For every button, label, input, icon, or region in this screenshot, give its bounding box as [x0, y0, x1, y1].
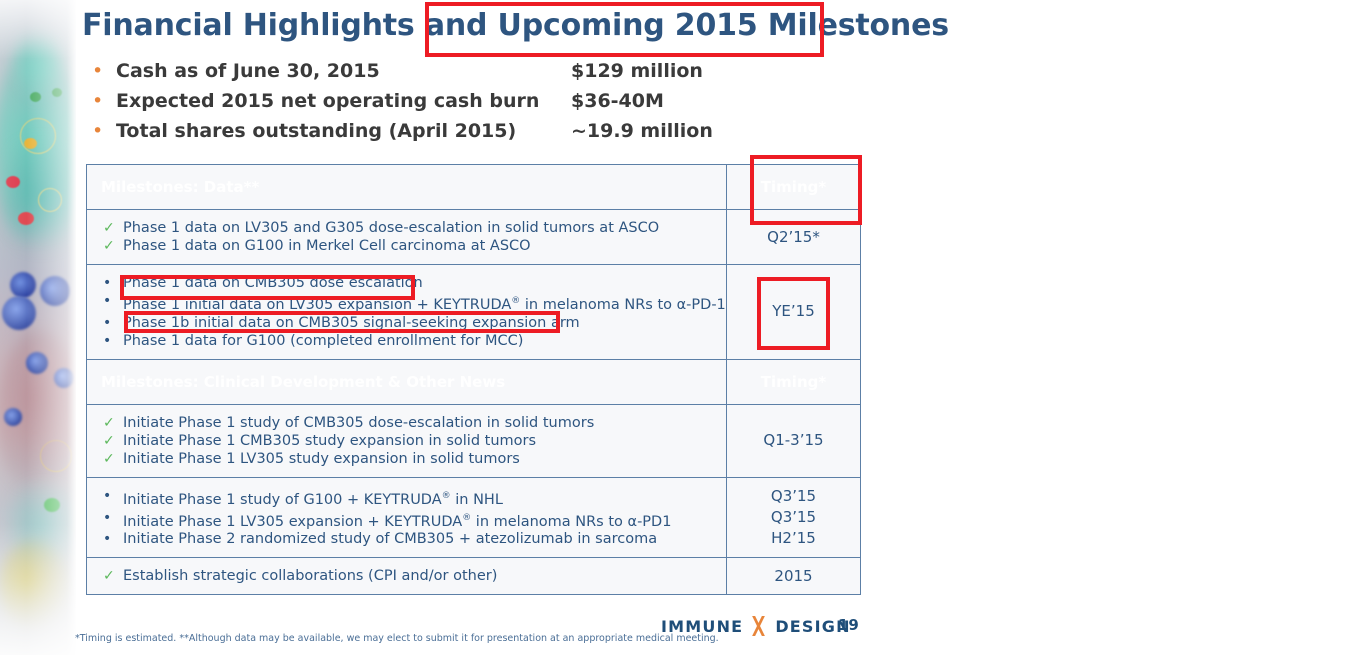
- check-icon: ✓: [97, 450, 123, 468]
- timing-value: Q3’15: [731, 507, 856, 528]
- milestone-text: Establish strategic collaborations (CPI …: [123, 567, 497, 585]
- list-item: • Cash as of June 30, 2015 $129 million: [92, 60, 792, 90]
- highlight-value: $129 million: [571, 60, 703, 82]
- milestone-cell: ✓ Initiate Phase 1 study of CMB305 dose-…: [87, 404, 727, 477]
- list-item: ✓ Initiate Phase 1 LV305 study expansion…: [97, 450, 720, 468]
- list-item: ✓ Phase 1 data on G100 in Merkel Cell ca…: [97, 237, 720, 255]
- milestone-text: Initiate Phase 2 randomized study of CMB…: [123, 530, 657, 548]
- list-item: ✓ Phase 1 data on LV305 and G305 dose-es…: [97, 219, 720, 237]
- table-row: ✓ Initiate Phase 1 study of CMB305 dose-…: [87, 404, 861, 477]
- milestone-cell: ✓ Phase 1 data on LV305 and G305 dose-es…: [87, 210, 727, 265]
- timing-value: Q2’15*: [731, 227, 856, 248]
- bullet-icon: •: [92, 122, 116, 141]
- column-header-timing-data: Timing*: [727, 165, 861, 210]
- milestone-cell: • Initiate Phase 1 study of G100 + KEYTR…: [87, 477, 727, 558]
- milestone-text: Phase 1 initial data on LV305 expansion …: [123, 292, 726, 314]
- list-item: • Phase 1 initial data on LV305 expansio…: [97, 292, 720, 314]
- list-item: • Initiate Phase 1 study of G100 + KEYTR…: [97, 487, 720, 509]
- strip-vertical-fade: [0, 0, 76, 655]
- milestone-text: Phase 1 data on CMB305 dose escalation: [123, 274, 423, 292]
- list-item: ✓ Initiate Phase 1 study of CMB305 dose-…: [97, 414, 720, 432]
- highlight-value: $36-40M: [571, 90, 664, 112]
- milestone-cell: ✓ Establish strategic collaborations (CP…: [87, 558, 727, 595]
- check-icon: ✓: [97, 432, 123, 450]
- decorative-bio-image-strip: [0, 0, 76, 655]
- timing-cell: Q2’15*: [727, 210, 861, 265]
- timing-cell: Q3’15 Q3’15 H2’15: [727, 477, 861, 558]
- milestone-text: Phase 1b initial data on CMB305 signal-s…: [123, 314, 580, 332]
- milestone-text: Phase 1 data on G100 in Merkel Cell carc…: [123, 237, 531, 255]
- milestone-cell: • Phase 1 data on CMB305 dose escalation…: [87, 265, 727, 360]
- milestone-text: Initiate Phase 1 LV305 expansion + KEYTR…: [123, 509, 671, 531]
- table-row: • Phase 1 data on CMB305 dose escalation…: [87, 265, 861, 360]
- timing-value: Q1-3’15: [731, 430, 856, 451]
- list-item: • Phase 1b initial data on CMB305 signal…: [97, 314, 720, 332]
- hourglass-logo-icon: [746, 616, 772, 636]
- milestone-text: Phase 1 data for G100 (completed enrollm…: [123, 332, 523, 350]
- bullet-icon: •: [97, 487, 123, 505]
- table-header-row-clinical: Milestones: Clinical Development & Other…: [87, 359, 861, 404]
- table-header-row-data: Milestones: Data** Timing*: [87, 165, 861, 210]
- timing-value: YE’15: [731, 301, 856, 322]
- financial-highlights-list: • Cash as of June 30, 2015 $129 million …: [92, 60, 792, 150]
- page-number: 19: [838, 616, 859, 634]
- milestone-text: Initiate Phase 1 CMB305 study expansion …: [123, 432, 536, 450]
- timing-value: Q3’15: [731, 486, 856, 507]
- bullet-icon: •: [97, 509, 123, 527]
- check-icon: ✓: [97, 237, 123, 255]
- column-header-milestones-data: Milestones: Data**: [87, 165, 727, 210]
- page-title: Financial Highlights and Upcoming 2015 M…: [82, 8, 949, 43]
- check-icon: ✓: [97, 567, 123, 585]
- highlight-label: Cash as of June 30, 2015: [116, 60, 571, 82]
- list-item: • Phase 1 data on CMB305 dose escalation: [97, 274, 720, 292]
- list-item: • Expected 2015 net operating cash burn …: [92, 90, 792, 120]
- highlight-label: Total shares outstanding (April 2015): [116, 120, 571, 142]
- list-item: ✓ Establish strategic collaborations (CP…: [97, 567, 720, 585]
- list-item: ✓ Initiate Phase 1 CMB305 study expansio…: [97, 432, 720, 450]
- check-icon: ✓: [97, 219, 123, 237]
- bullet-icon: •: [97, 530, 123, 548]
- bullet-icon: •: [97, 332, 123, 350]
- check-icon: ✓: [97, 414, 123, 432]
- immune-design-logo: IMMUNE DESIGN: [661, 615, 851, 637]
- bullet-icon: •: [97, 292, 123, 310]
- milestone-text: Phase 1 data on LV305 and G305 dose-esca…: [123, 219, 659, 237]
- bullet-icon: •: [97, 314, 123, 332]
- column-header-timing-clinical: Timing*: [727, 359, 861, 404]
- bullet-icon: •: [92, 62, 116, 81]
- list-item: • Initiate Phase 1 LV305 expansion + KEY…: [97, 509, 720, 531]
- timing-value: 2015: [731, 566, 856, 587]
- highlight-label: Expected 2015 net operating cash burn: [116, 90, 571, 112]
- timing-cell: YE’15: [727, 265, 861, 360]
- bullet-icon: •: [92, 92, 116, 111]
- table-row: ✓ Phase 1 data on LV305 and G305 dose-es…: [87, 210, 861, 265]
- list-item: • Phase 1 data for G100 (completed enrol…: [97, 332, 720, 350]
- milestones-table: Milestones: Data** Timing* ✓ Phase 1 dat…: [86, 164, 861, 595]
- milestone-text: Initiate Phase 1 study of G100 + KEYTRUD…: [123, 487, 503, 509]
- timing-cell: 2015: [727, 558, 861, 595]
- milestone-text: Initiate Phase 1 study of CMB305 dose-es…: [123, 414, 594, 432]
- column-header-milestones-clinical: Milestones: Clinical Development & Other…: [87, 359, 727, 404]
- highlight-value: ~19.9 million: [571, 120, 713, 142]
- table-row: ✓ Establish strategic collaborations (CP…: [87, 558, 861, 595]
- bullet-icon: •: [97, 274, 123, 292]
- footnote-text: *Timing is estimated. **Although data ma…: [75, 633, 719, 644]
- list-item: • Initiate Phase 2 randomized study of C…: [97, 530, 720, 548]
- logo-word-immune: IMMUNE: [661, 617, 743, 636]
- table-row: • Initiate Phase 1 study of G100 + KEYTR…: [87, 477, 861, 558]
- timing-value: H2’15: [731, 528, 856, 549]
- timing-cell: Q1-3’15: [727, 404, 861, 477]
- list-item: • Total shares outstanding (April 2015) …: [92, 120, 792, 150]
- milestone-text: Initiate Phase 1 LV305 study expansion i…: [123, 450, 520, 468]
